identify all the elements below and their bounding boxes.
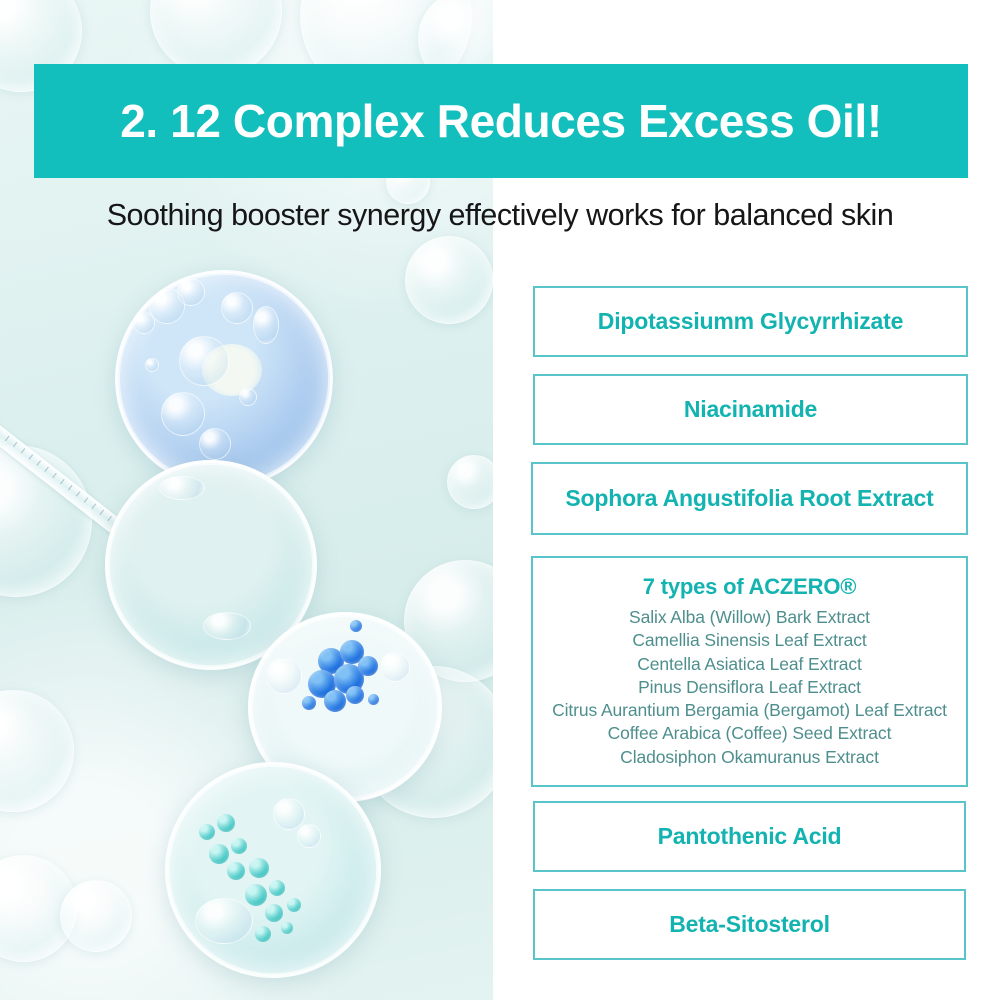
page-subtitle: Soothing booster synergy effectively wor… [0, 198, 1000, 233]
ingredient-label: Beta-Sitosterol [669, 911, 830, 938]
list-item: Pinus Densiflora Leaf Extract [552, 676, 947, 699]
list-item: Salix Alba (Willow) Bark Extract [552, 606, 947, 629]
background-bubble [0, 690, 74, 812]
page-title: 2. 12 Complex Reduces Excess Oil! [120, 98, 882, 144]
list-item: Citrus Aurantium Bergamia (Bergamot) Lea… [552, 699, 947, 722]
list-item: Camellia Sinensis Leaf Extract [552, 629, 947, 652]
ingredient-box-3: Sophora Angustifolia Root Extract [531, 462, 968, 535]
ingredient-label: Dipotassiumm Glycyrrhizate [598, 308, 903, 335]
list-item: Cladosiphon Okamuranus Extract [552, 746, 947, 769]
ingredient-box-1: Dipotassiumm Glycyrrhizate [533, 286, 968, 357]
ingredient-box-6: Beta-Sitosterol [533, 889, 966, 960]
list-item: Centella Asiatica Leaf Extract [552, 653, 947, 676]
ingredient-box-5: Pantothenic Acid [533, 801, 966, 872]
background-bubble [447, 455, 493, 509]
section-header-banner: 2. 12 Complex Reduces Excess Oil! [34, 64, 968, 178]
ingredient-label: Sophora Angustifolia Root Extract [565, 485, 933, 512]
ingredient-label: Niacinamide [684, 396, 817, 423]
background-bubble [60, 880, 132, 952]
aczero-title: 7 types of ACZERO® [643, 574, 857, 600]
petri-dish-blue-gel [115, 270, 333, 488]
ingredient-box-2: Niacinamide [533, 374, 968, 445]
petri-dish-cyan-molecule [165, 762, 381, 978]
ingredient-label: Pantothenic Acid [658, 823, 842, 850]
list-item: Coffee Arabica (Coffee) Seed Extract [552, 722, 947, 745]
ingredient-box-aczero: 7 types of ACZERO® Salix Alba (Willow) B… [531, 556, 968, 787]
infographic-page: 2. 12 Complex Reduces Excess Oil! Soothi… [0, 0, 1000, 1000]
aczero-ingredient-list: Salix Alba (Willow) Bark Extract Camelli… [552, 606, 947, 769]
background-bubble [405, 236, 493, 324]
